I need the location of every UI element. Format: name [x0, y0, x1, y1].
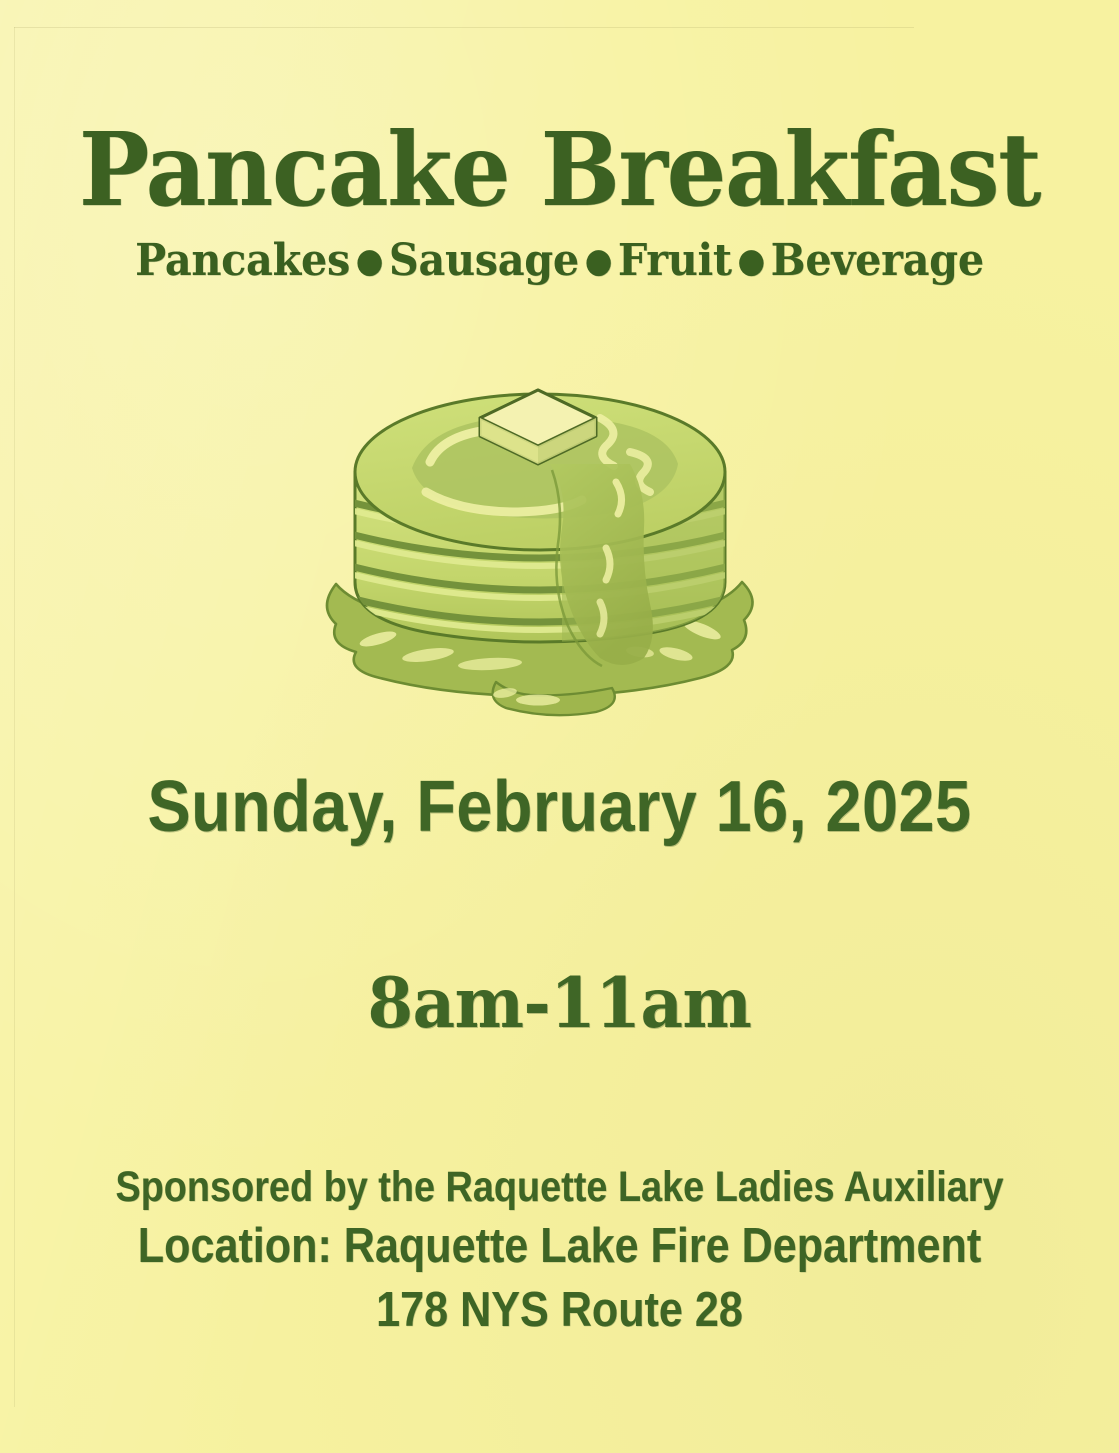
address-line: 178 NYS Route 28: [67, 1278, 1052, 1343]
bullet-separator-icon: ●: [350, 241, 389, 281]
event-date: Sunday, February 16, 2025: [56, 771, 1063, 843]
menu-item-pancakes: Pancakes: [135, 235, 350, 286]
headline-block: Pancake Breakfast Pancakes●Sausage●Fruit…: [0, 118, 1119, 285]
bullet-separator-icon: ●: [579, 241, 618, 281]
menu-item-beverage: Beverage: [771, 235, 984, 286]
scan-edge-top: [14, 27, 914, 28]
pancake-stack-icon: [300, 352, 780, 724]
menu-subtitle: Pancakes●Sausage●Fruit●Beverage: [34, 237, 1086, 285]
bullet-separator-icon: ●: [732, 241, 771, 281]
event-time: 8am-11am: [28, 969, 1091, 1038]
footer-block: Sponsored by the Raquette Lake Ladies Au…: [0, 1160, 1119, 1342]
menu-item-sausage: Sausage: [389, 235, 579, 286]
menu-item-fruit: Fruit: [618, 235, 732, 286]
page-title: Pancake Breakfast: [39, 118, 1080, 221]
sponsor-line: Sponsored by the Raquette Lake Ladies Au…: [67, 1160, 1052, 1215]
pancake-breakfast-flyer: Pancake Breakfast Pancakes●Sausage●Fruit…: [0, 0, 1119, 1453]
location-line: Location: Raquette Lake Fire Department: [67, 1215, 1052, 1278]
